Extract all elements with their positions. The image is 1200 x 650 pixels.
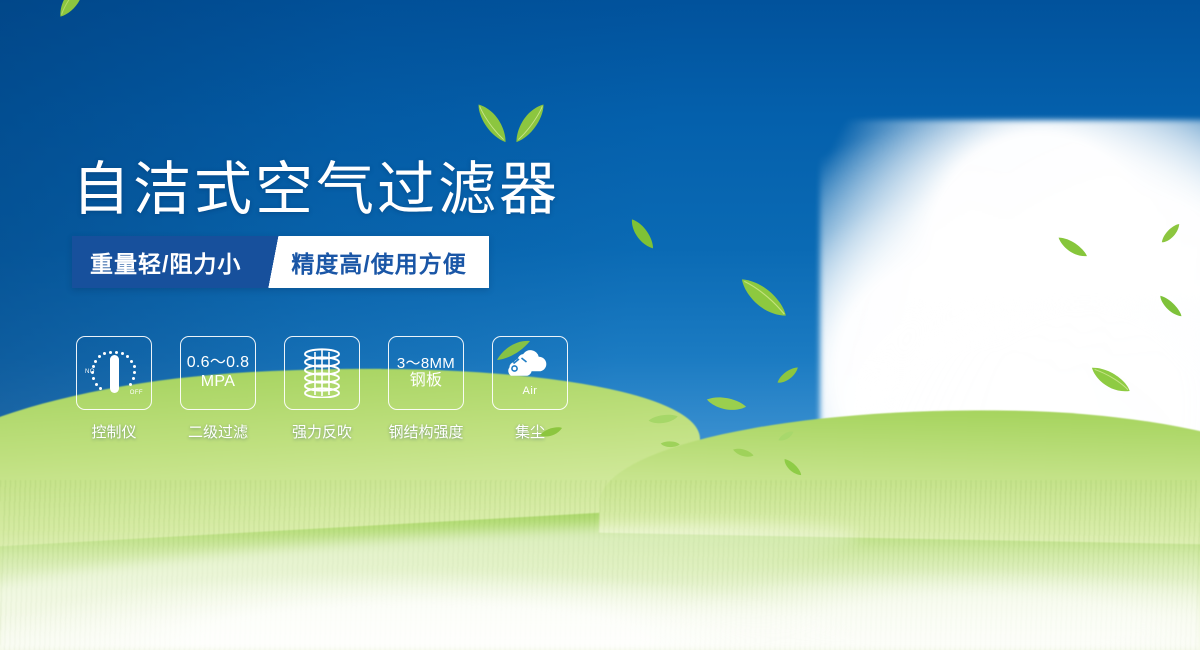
subtitle-right: 精度高/使用方便: [287, 236, 488, 288]
feature-icon-box: Air: [492, 336, 568, 410]
feature-icon-box: [284, 336, 360, 410]
feature-box-text2: Air: [523, 385, 538, 398]
gauge-label-off: OFF: [130, 390, 143, 397]
feature-item[interactable]: 0.6～0.8 MPA 二级过滤: [180, 336, 256, 442]
feature-item[interactable]: 强力反吹: [284, 336, 360, 442]
feature-box-text: 0.6～0.8: [187, 354, 250, 373]
feature-box-text2: 钢板: [410, 372, 443, 391]
banner-content: 自洁式空气过滤器 重量轻/阻力小 精度高/使用方便: [0, 0, 1200, 650]
feature-caption: 强力反吹: [292, 421, 352, 442]
feature-item[interactable]: 3～8MM 钢板 钢结构强度: [388, 336, 464, 442]
subtitle-left: 重量轻/阻力小: [72, 236, 261, 288]
feature-icon-box: 0.6～0.8 MPA: [180, 336, 256, 410]
feature-icon-box: 3～8MM 钢板: [388, 336, 464, 410]
subtitle-bar: 重量轻/阻力小 精度高/使用方便: [72, 236, 489, 288]
feature-caption: 二级过滤: [188, 421, 248, 442]
feature-caption: 集尘: [515, 421, 545, 442]
gauge-needle: [110, 355, 119, 393]
leaf-icon: [539, 427, 563, 438]
feature-box-text2: MPA: [201, 373, 235, 392]
feature-item[interactable]: NO OFF 控制仪: [76, 336, 152, 442]
gauge-icon: NO OFF: [86, 347, 142, 399]
gauge-label-no: NO: [85, 369, 95, 376]
feature-item[interactable]: Air 集尘: [492, 336, 568, 442]
product-banner: 自洁式空气过滤器 重量轻/阻力小 精度高/使用方便: [0, 0, 1200, 650]
page-title: 自洁式空气过滤器: [72, 142, 560, 226]
feature-box-text: 3～8MM: [397, 355, 455, 373]
subtitle-slant-divider: [261, 236, 287, 288]
leaf-streak-icon: [497, 340, 531, 362]
filter-coil-icon: [300, 348, 344, 398]
feature-list: NO OFF 控制仪 0.6～0.8 MPA 二级过滤: [76, 336, 568, 442]
feature-caption: 控制仪: [91, 421, 136, 442]
feature-icon-box: NO OFF: [76, 336, 152, 410]
feature-caption: 钢结构强度: [388, 421, 463, 442]
